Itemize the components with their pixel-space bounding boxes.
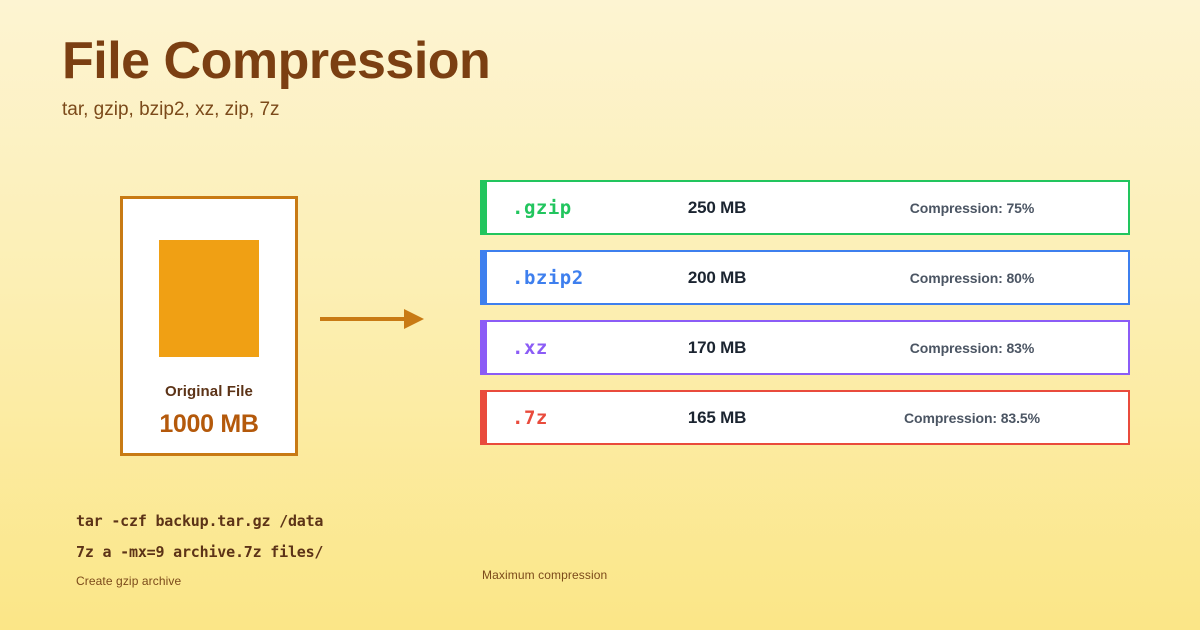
result-extension: .xz — [512, 337, 548, 359]
result-row-7z[interactable]: .7z 165 MB Compression: 83.5% — [480, 390, 1130, 445]
result-extension: .gzip — [512, 197, 572, 219]
file-block-icon — [159, 240, 259, 357]
result-compression: Compression: 75% — [827, 200, 1117, 216]
result-size: 170 MB — [642, 338, 792, 358]
original-file-card: Original File 1000 MB — [120, 196, 298, 456]
arrow-right-icon — [320, 305, 424, 333]
result-size: 250 MB — [642, 198, 792, 218]
header: File Compression tar, gzip, bzip2, xz, z… — [62, 34, 762, 121]
command-line-7z: 7z a -mx=9 archive.7z files/ — [76, 543, 496, 561]
command-line-tar: tar -czf backup.tar.gz /data — [76, 512, 496, 530]
result-size: 200 MB — [642, 268, 792, 288]
command-caption-gzip: Create gzip archive — [76, 574, 496, 588]
result-extension: .bzip2 — [512, 267, 584, 289]
result-compression: Compression: 80% — [827, 270, 1117, 286]
result-row-xz[interactable]: .xz 170 MB Compression: 83% — [480, 320, 1130, 375]
page-subtitle: tar, gzip, bzip2, xz, zip, 7z — [62, 99, 762, 122]
result-row-bzip2[interactable]: .bzip2 200 MB Compression: 80% — [480, 250, 1130, 305]
result-compression: Compression: 83.5% — [827, 410, 1117, 426]
page-title: File Compression — [62, 34, 762, 89]
original-file-size: 1000 MB — [159, 410, 258, 439]
result-size: 165 MB — [642, 408, 792, 428]
result-row-gzip[interactable]: .gzip 250 MB Compression: 75% — [480, 180, 1130, 235]
compression-results-list: .gzip 250 MB Compression: 75% .bzip2 200… — [480, 180, 1130, 445]
result-compression: Compression: 83% — [827, 340, 1117, 356]
command-caption-max: Maximum compression — [482, 568, 607, 582]
original-file-label: Original File — [165, 383, 253, 400]
command-examples: tar -czf backup.tar.gz /data 7z a -mx=9 … — [76, 512, 496, 588]
result-extension: .7z — [512, 407, 548, 429]
